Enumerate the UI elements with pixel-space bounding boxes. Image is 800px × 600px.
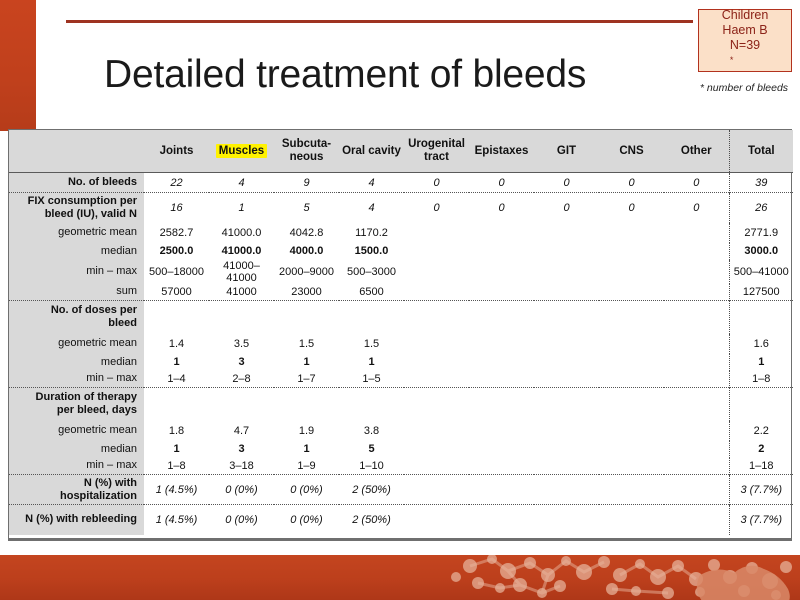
table-cell bbox=[664, 388, 729, 421]
table-cell: 0 (0%) bbox=[209, 475, 274, 505]
table-cell: 5 bbox=[339, 441, 404, 458]
table-cell: 2–8 bbox=[209, 371, 274, 388]
table-row: sum5700041000230006500127500 bbox=[9, 284, 793, 301]
table-cell-total bbox=[729, 388, 793, 421]
table-cell-total: 500–41000 bbox=[729, 260, 793, 284]
header-other: Other bbox=[664, 130, 729, 173]
table-cell-total bbox=[729, 301, 793, 334]
table-cell: 1–8 bbox=[144, 458, 209, 475]
cohort-badge: Children Haem B N=39* bbox=[698, 9, 792, 72]
row-label: min – max bbox=[9, 458, 144, 475]
table-cell: 0 bbox=[469, 173, 534, 193]
table-cell bbox=[469, 223, 534, 243]
badge-line-3: N=39* bbox=[730, 38, 760, 72]
table-cell bbox=[664, 260, 729, 284]
table-cell bbox=[404, 260, 469, 284]
table-cell bbox=[534, 223, 599, 243]
table-cell bbox=[599, 284, 664, 301]
table-cell bbox=[599, 505, 664, 535]
header-git: GIT bbox=[534, 130, 599, 173]
table-cell bbox=[534, 243, 599, 260]
table-cell: 41000–41000 bbox=[209, 260, 274, 284]
table-cell: 1.9 bbox=[274, 421, 339, 441]
table-cell: 3.5 bbox=[209, 334, 274, 354]
table-cell: 0 (0%) bbox=[209, 505, 274, 535]
table-cell-total: 1.6 bbox=[729, 334, 793, 354]
table-cell bbox=[274, 301, 339, 334]
table-cell: 4000.0 bbox=[274, 243, 339, 260]
table-cell: 1–5 bbox=[339, 371, 404, 388]
table-cell: 0 (0%) bbox=[274, 505, 339, 535]
table-cell: 2582.7 bbox=[144, 223, 209, 243]
table-cell bbox=[599, 223, 664, 243]
table-cell bbox=[404, 243, 469, 260]
table-cell bbox=[404, 354, 469, 371]
table-cell bbox=[404, 458, 469, 475]
table-row: geometric mean1.84.71.93.82.2 bbox=[9, 421, 793, 441]
table-cell: 4 bbox=[339, 193, 404, 223]
table-cell: 3 bbox=[209, 441, 274, 458]
table-cell: 0 bbox=[664, 193, 729, 223]
table-cell bbox=[469, 505, 534, 535]
results-table: Joints Muscles Subcuta-neous Oral cavity… bbox=[8, 129, 792, 539]
table-cell: 1.4 bbox=[144, 334, 209, 354]
table-cell: 41000 bbox=[209, 284, 274, 301]
table-cell-total: 3000.0 bbox=[729, 243, 793, 260]
table-cell bbox=[534, 475, 599, 505]
table-cell bbox=[469, 421, 534, 441]
table-cell bbox=[664, 354, 729, 371]
table-cell: 4 bbox=[209, 173, 274, 193]
table-cell bbox=[209, 388, 274, 421]
table-cell bbox=[664, 223, 729, 243]
table-cell bbox=[599, 354, 664, 371]
table-cell bbox=[404, 371, 469, 388]
table-cell bbox=[534, 354, 599, 371]
header-total: Total bbox=[729, 130, 793, 173]
table-cell: 1.5 bbox=[339, 334, 404, 354]
table-cell bbox=[144, 388, 209, 421]
table-cell: 3–18 bbox=[209, 458, 274, 475]
table-row: min – max1–42–81–71–51–8 bbox=[9, 371, 793, 388]
table-cell: 6500 bbox=[339, 284, 404, 301]
table-cell: 3 bbox=[209, 354, 274, 371]
table-cell: 41000.0 bbox=[209, 243, 274, 260]
table-cell bbox=[274, 388, 339, 421]
table-cell: 3.8 bbox=[339, 421, 404, 441]
table-cell bbox=[469, 334, 534, 354]
row-label: geometric mean bbox=[9, 334, 144, 354]
table-cell: 4 bbox=[339, 173, 404, 193]
badge-line-1: Children bbox=[722, 8, 769, 23]
table-cell: 23000 bbox=[274, 284, 339, 301]
table-row: No. of doses perbleed bbox=[9, 301, 793, 334]
table-cell: 1.5 bbox=[274, 334, 339, 354]
table-cell: 1–10 bbox=[339, 458, 404, 475]
table-cell: 16 bbox=[144, 193, 209, 223]
table-cell bbox=[664, 284, 729, 301]
table-cell: 2 (50%) bbox=[339, 475, 404, 505]
table-cell-total: 39 bbox=[729, 173, 793, 193]
table-cell bbox=[469, 441, 534, 458]
table-cell bbox=[534, 458, 599, 475]
table-bottom-rule bbox=[8, 538, 792, 541]
table-cell-total: 1–8 bbox=[729, 371, 793, 388]
table-cell bbox=[469, 354, 534, 371]
table-row: median13152 bbox=[9, 441, 793, 458]
table-cell-total: 2.2 bbox=[729, 421, 793, 441]
table-cell bbox=[339, 301, 404, 334]
table-cell bbox=[469, 458, 534, 475]
row-label: FIX consumption perbleed (IU), valid N bbox=[9, 193, 144, 223]
table-cell: 0 bbox=[599, 193, 664, 223]
table-row: geometric mean1.43.51.51.51.6 bbox=[9, 334, 793, 354]
row-label: min – max bbox=[9, 371, 144, 388]
table-cell: 0 bbox=[599, 173, 664, 193]
table-cell bbox=[534, 284, 599, 301]
table-cell bbox=[404, 505, 469, 535]
table-cell bbox=[599, 388, 664, 421]
table-row: N (%) withhospitalization1 (4.5%)0 (0%)0… bbox=[9, 475, 793, 505]
table-cell bbox=[599, 441, 664, 458]
table-cell bbox=[209, 301, 274, 334]
table-cell: 2500.0 bbox=[144, 243, 209, 260]
slide: Detailed treatment of bleeds Children Ha… bbox=[0, 0, 800, 600]
table-cell bbox=[664, 243, 729, 260]
header-muscles: Muscles bbox=[209, 130, 274, 173]
table-row: No. of bleeds224940000039 bbox=[9, 173, 793, 193]
table-cell-total: 2771.9 bbox=[729, 223, 793, 243]
table-cell: 4.7 bbox=[209, 421, 274, 441]
table-row: min – max500–1800041000–410002000–900050… bbox=[9, 260, 793, 284]
table-cell bbox=[404, 475, 469, 505]
table-cell: 0 bbox=[664, 173, 729, 193]
table-cell bbox=[664, 441, 729, 458]
table-cell bbox=[469, 243, 534, 260]
row-label: sum bbox=[9, 284, 144, 301]
row-label: Duration of therapyper bleed, days bbox=[9, 388, 144, 421]
header-muscles-highlight: Muscles bbox=[216, 144, 267, 158]
table-row: min – max1–83–181–91–101–18 bbox=[9, 458, 793, 475]
table-cell bbox=[534, 301, 599, 334]
table-cell bbox=[664, 475, 729, 505]
table-cell: 2000–9000 bbox=[274, 260, 339, 284]
table-cell: 0 (0%) bbox=[274, 475, 339, 505]
table-cell: 1170.2 bbox=[339, 223, 404, 243]
row-label: geometric mean bbox=[9, 421, 144, 441]
table-row: N (%) with rebleeding1 (4.5%)0 (0%)0 (0%… bbox=[9, 505, 793, 535]
table-cell: 1500.0 bbox=[339, 243, 404, 260]
header-blank bbox=[9, 130, 144, 173]
header-joints: Joints bbox=[144, 130, 209, 173]
header-cns: CNS bbox=[599, 130, 664, 173]
title-rule bbox=[66, 20, 693, 23]
table-cell: 57000 bbox=[144, 284, 209, 301]
table-cell-total: 127500 bbox=[729, 284, 793, 301]
header-urogenital-tract: Urogenitaltract bbox=[404, 130, 469, 173]
table-cell: 0 bbox=[534, 193, 599, 223]
row-label: N (%) with rebleeding bbox=[9, 505, 144, 535]
table-cell-total: 3 (7.7%) bbox=[729, 505, 793, 535]
table-cell: 4042.8 bbox=[274, 223, 339, 243]
table-cell: 0 bbox=[404, 173, 469, 193]
table-row: median2500.041000.04000.01500.03000.0 bbox=[9, 243, 793, 260]
table-cell bbox=[664, 458, 729, 475]
table-cell bbox=[534, 441, 599, 458]
table-cell bbox=[404, 223, 469, 243]
table-cell bbox=[534, 371, 599, 388]
table-cell: 0 bbox=[404, 193, 469, 223]
table-cell-total: 3 (7.7%) bbox=[729, 475, 793, 505]
table-cell bbox=[404, 284, 469, 301]
table-cell bbox=[599, 371, 664, 388]
table-cell bbox=[404, 421, 469, 441]
table-row: Duration of therapyper bleed, days bbox=[9, 388, 793, 421]
row-label: median bbox=[9, 441, 144, 458]
table-cell bbox=[469, 371, 534, 388]
table-cell bbox=[469, 284, 534, 301]
table-cell bbox=[599, 334, 664, 354]
table-cell: 1.8 bbox=[144, 421, 209, 441]
table-cell-total: 1–18 bbox=[729, 458, 793, 475]
table-cell: 41000.0 bbox=[209, 223, 274, 243]
table-row: geometric mean2582.741000.04042.81170.22… bbox=[9, 223, 793, 243]
page-title: Detailed treatment of bleeds bbox=[104, 46, 694, 104]
table-cell bbox=[404, 441, 469, 458]
table-cell: 5 bbox=[274, 193, 339, 223]
row-label: median bbox=[9, 354, 144, 371]
table-cell bbox=[144, 301, 209, 334]
table-cell: 500–18000 bbox=[144, 260, 209, 284]
table-cell: 2 (50%) bbox=[339, 505, 404, 535]
table-cell: 1–4 bbox=[144, 371, 209, 388]
row-label: median bbox=[9, 243, 144, 260]
table-cell bbox=[534, 388, 599, 421]
table-cell bbox=[599, 475, 664, 505]
row-label: N (%) withhospitalization bbox=[9, 475, 144, 505]
table-cell: 0 bbox=[534, 173, 599, 193]
table-cell bbox=[469, 388, 534, 421]
table-cell: 9 bbox=[274, 173, 339, 193]
table-header-row: Joints Muscles Subcuta-neous Oral cavity… bbox=[9, 130, 793, 173]
row-label: No. of doses perbleed bbox=[9, 301, 144, 334]
table-cell: 1 bbox=[339, 354, 404, 371]
table-cell bbox=[534, 334, 599, 354]
table-cell: 1–9 bbox=[274, 458, 339, 475]
table-cell bbox=[469, 260, 534, 284]
table-cell: 1 bbox=[274, 354, 339, 371]
table-cell bbox=[534, 505, 599, 535]
table-cell bbox=[404, 301, 469, 334]
molecule-pattern-icon bbox=[0, 555, 800, 600]
table-cell: 1 bbox=[274, 441, 339, 458]
header-epistaxes: Epistaxes bbox=[469, 130, 534, 173]
table-cell bbox=[664, 371, 729, 388]
table-cell bbox=[534, 260, 599, 284]
header-subcutaneous: Subcuta-neous bbox=[274, 130, 339, 173]
table-cell: 1 bbox=[144, 354, 209, 371]
table-cell: 22 bbox=[144, 173, 209, 193]
table-cell bbox=[339, 388, 404, 421]
table-body: No. of bleeds224940000039FIX consumption… bbox=[9, 173, 793, 535]
table-row: median13111 bbox=[9, 354, 793, 371]
table-cell: 1–7 bbox=[274, 371, 339, 388]
table-cell bbox=[469, 475, 534, 505]
table-cell-total: 26 bbox=[729, 193, 793, 223]
table-cell bbox=[599, 458, 664, 475]
table-cell: 1 (4.5%) bbox=[144, 475, 209, 505]
badge-footnote: * number of bleeds bbox=[690, 82, 798, 94]
table-cell: 1 (4.5%) bbox=[144, 505, 209, 535]
table-cell bbox=[469, 301, 534, 334]
table-cell-total: 2 bbox=[729, 441, 793, 458]
header-oral-cavity: Oral cavity bbox=[339, 130, 404, 173]
table-cell bbox=[534, 421, 599, 441]
table-cell bbox=[664, 334, 729, 354]
table-cell bbox=[664, 421, 729, 441]
row-label: min – max bbox=[9, 260, 144, 284]
table-cell: 1 bbox=[209, 193, 274, 223]
table-cell bbox=[599, 301, 664, 334]
table-cell bbox=[404, 334, 469, 354]
table-cell: 0 bbox=[469, 193, 534, 223]
table-cell bbox=[599, 421, 664, 441]
row-label: geometric mean bbox=[9, 223, 144, 243]
table-cell bbox=[404, 388, 469, 421]
table-cell bbox=[664, 505, 729, 535]
left-accent-bar bbox=[0, 0, 36, 131]
table-cell bbox=[599, 243, 664, 260]
table-cell: 500–3000 bbox=[339, 260, 404, 284]
table-row: FIX consumption perbleed (IU), valid N16… bbox=[9, 193, 793, 223]
footer-bar: Czech National Hemophilia Program iba In… bbox=[0, 555, 800, 600]
table-cell: 1 bbox=[144, 441, 209, 458]
badge-line-2: Haem B bbox=[722, 23, 767, 38]
row-label: No. of bleeds bbox=[9, 173, 144, 193]
table-cell bbox=[664, 301, 729, 334]
table-cell bbox=[599, 260, 664, 284]
table-cell-total: 1 bbox=[729, 354, 793, 371]
